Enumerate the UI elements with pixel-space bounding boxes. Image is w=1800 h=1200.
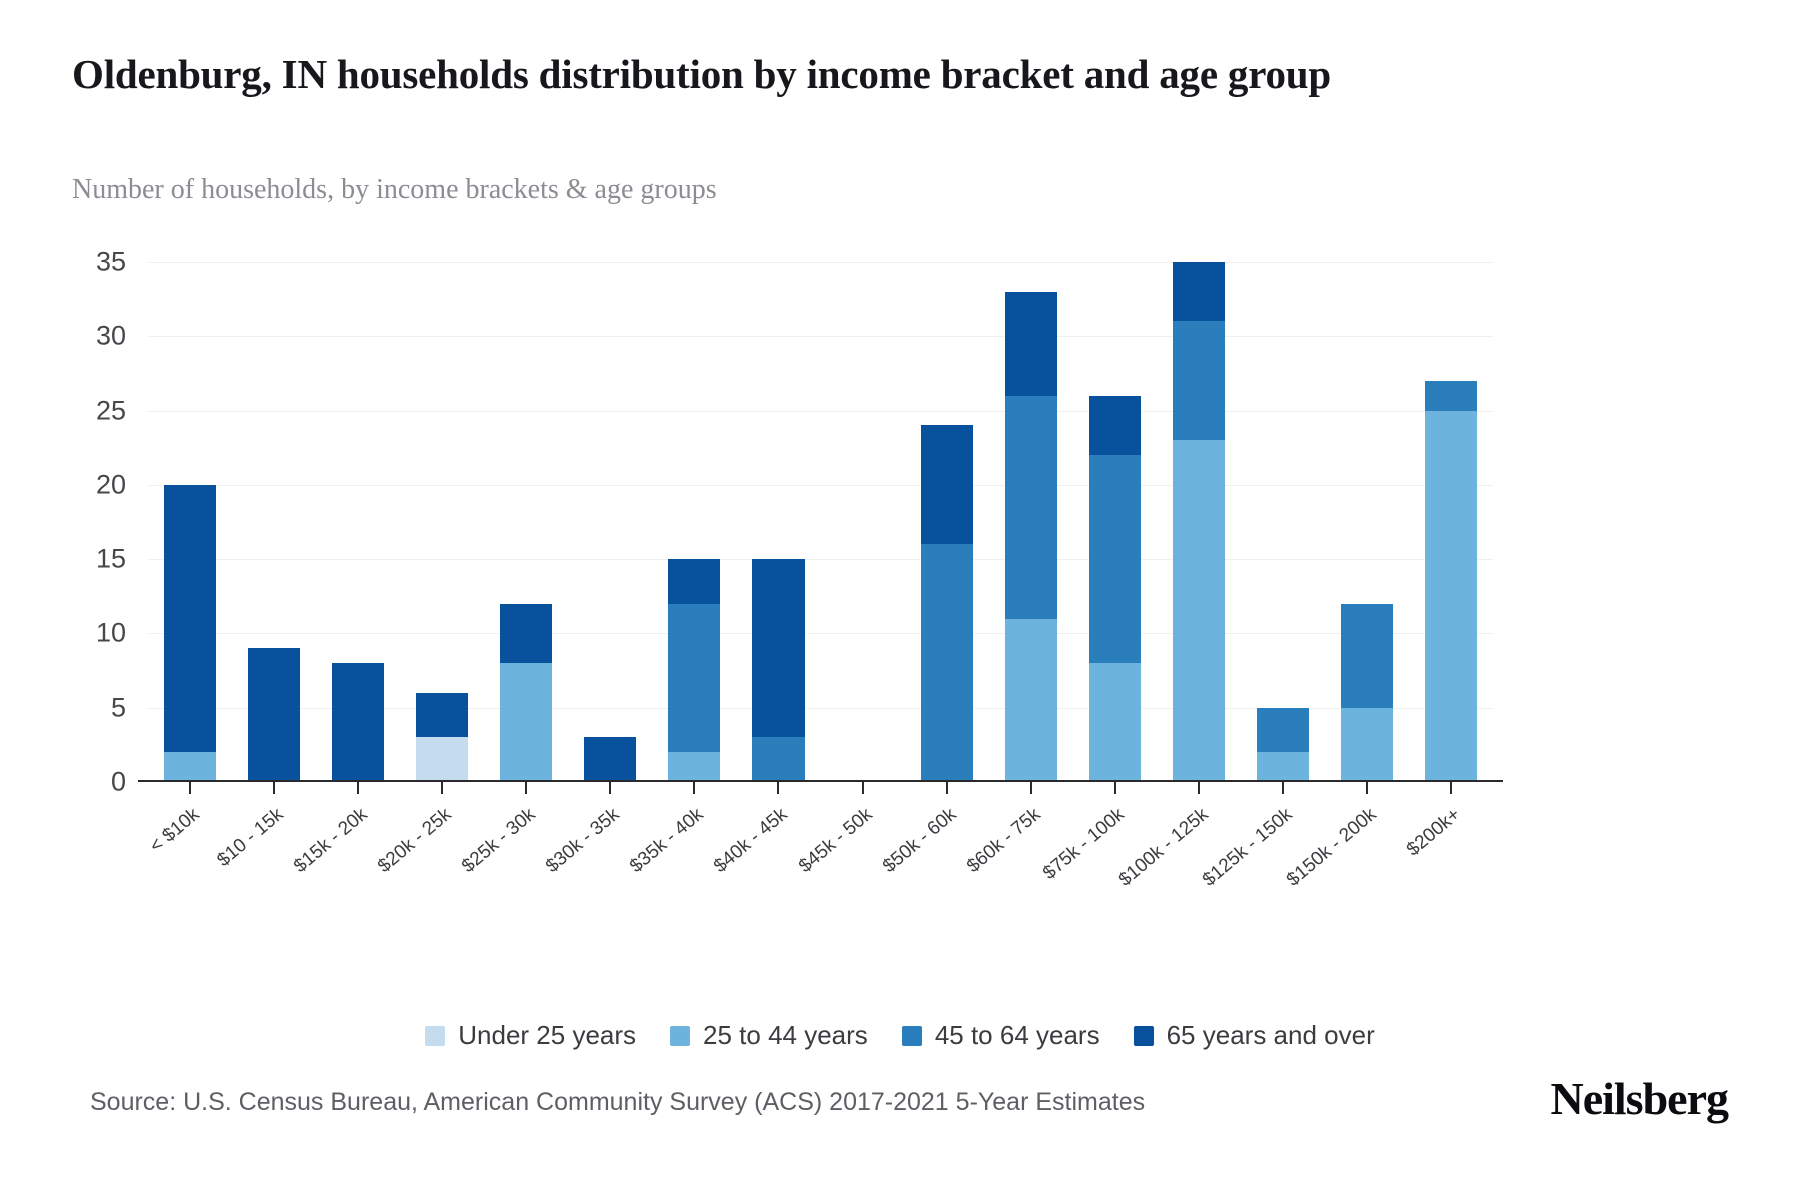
bar-segment[interactable]	[668, 559, 720, 604]
bar-segment[interactable]	[584, 737, 636, 782]
bar-segment[interactable]	[1425, 411, 1477, 782]
bar-segment[interactable]	[164, 485, 216, 752]
brand-logo: Neilsberg	[1550, 1072, 1728, 1125]
bar-segment[interactable]	[1089, 663, 1141, 782]
legend-swatch-icon	[670, 1026, 690, 1046]
bar-segment[interactable]	[1005, 292, 1057, 396]
bar-stack[interactable]	[921, 425, 973, 782]
legend-item[interactable]: Under 25 years	[425, 1020, 636, 1051]
bar-segment[interactable]	[416, 737, 468, 782]
bar-segment[interactable]	[668, 604, 720, 753]
bar-segment[interactable]	[1005, 396, 1057, 619]
page-title: Oldenburg, IN households distribution by…	[72, 48, 1572, 100]
legend-swatch-icon	[425, 1026, 445, 1046]
y-axis-tick-label: 15	[16, 544, 126, 575]
chart-legend: Under 25 years25 to 44 years45 to 64 yea…	[0, 1020, 1800, 1051]
bar-stack[interactable]	[668, 559, 720, 782]
y-axis-tick-label: 5	[16, 692, 126, 723]
bar-stack[interactable]	[332, 663, 384, 782]
legend-swatch-icon	[902, 1026, 922, 1046]
bar-segment[interactable]	[164, 752, 216, 782]
y-axis-tick-label: 0	[16, 767, 126, 798]
bar-stack[interactable]	[1425, 381, 1477, 782]
bar-segment[interactable]	[1089, 455, 1141, 663]
bar-segment[interactable]	[752, 559, 804, 737]
bar-segment[interactable]	[752, 737, 804, 782]
x-axis-labels: < $10k$10 - 15k$15k - 20k$20k - 25k$25k …	[148, 790, 1493, 930]
bar-segment[interactable]	[1005, 619, 1057, 782]
bar-segment[interactable]	[1173, 440, 1225, 782]
legend-item[interactable]: 65 years and over	[1134, 1020, 1375, 1051]
bar-segment[interactable]	[1257, 708, 1309, 753]
bar-stack[interactable]	[1005, 292, 1057, 782]
bar-segment[interactable]	[1425, 381, 1477, 411]
x-axis-line	[138, 780, 1503, 782]
bar-segment[interactable]	[1341, 708, 1393, 782]
bar-segment[interactable]	[416, 693, 468, 738]
legend-item[interactable]: 45 to 64 years	[902, 1020, 1100, 1051]
legend-label: 25 to 44 years	[703, 1020, 868, 1051]
bar-segment[interactable]	[500, 604, 552, 663]
legend-swatch-icon	[1134, 1026, 1154, 1046]
y-axis-tick-label: 20	[16, 469, 126, 500]
bar-segment[interactable]	[332, 663, 384, 782]
bar-stack[interactable]	[248, 648, 300, 782]
bar-stack[interactable]	[584, 737, 636, 782]
bar-stack[interactable]	[416, 693, 468, 782]
bar-series-group	[148, 262, 1493, 782]
page-subtitle: Number of households, by income brackets…	[72, 172, 1472, 208]
legend-item[interactable]: 25 to 44 years	[670, 1020, 868, 1051]
y-axis-tick-label: 10	[16, 618, 126, 649]
bar-segment[interactable]	[921, 425, 973, 544]
source-note: Source: U.S. Census Bureau, American Com…	[90, 1088, 1145, 1117]
y-axis-tick-label: 30	[16, 321, 126, 352]
bar-segment[interactable]	[668, 752, 720, 782]
plot-area	[148, 262, 1493, 782]
bar-segment[interactable]	[1341, 604, 1393, 708]
bar-stack[interactable]	[1341, 604, 1393, 782]
bar-stack[interactable]	[1089, 396, 1141, 782]
y-axis-tick-label: 35	[16, 247, 126, 278]
bar-stack[interactable]	[1173, 262, 1225, 782]
bar-segment[interactable]	[1257, 752, 1309, 782]
chart-page: Oldenburg, IN households distribution by…	[0, 0, 1800, 1200]
bar-stack[interactable]	[1257, 708, 1309, 782]
bar-segment[interactable]	[248, 648, 300, 782]
bar-segment[interactable]	[1173, 321, 1225, 440]
bar-segment[interactable]	[1173, 262, 1225, 321]
legend-label: Under 25 years	[458, 1020, 636, 1051]
bar-segment[interactable]	[500, 663, 552, 782]
bar-segment[interactable]	[921, 544, 973, 782]
bar-segment[interactable]	[1089, 396, 1141, 455]
legend-label: 65 years and over	[1167, 1020, 1375, 1051]
bar-stack[interactable]	[164, 485, 216, 782]
y-axis-tick-label: 25	[16, 395, 126, 426]
bar-stack[interactable]	[500, 604, 552, 782]
legend-label: 45 to 64 years	[935, 1020, 1100, 1051]
bar-stack[interactable]	[752, 559, 804, 782]
